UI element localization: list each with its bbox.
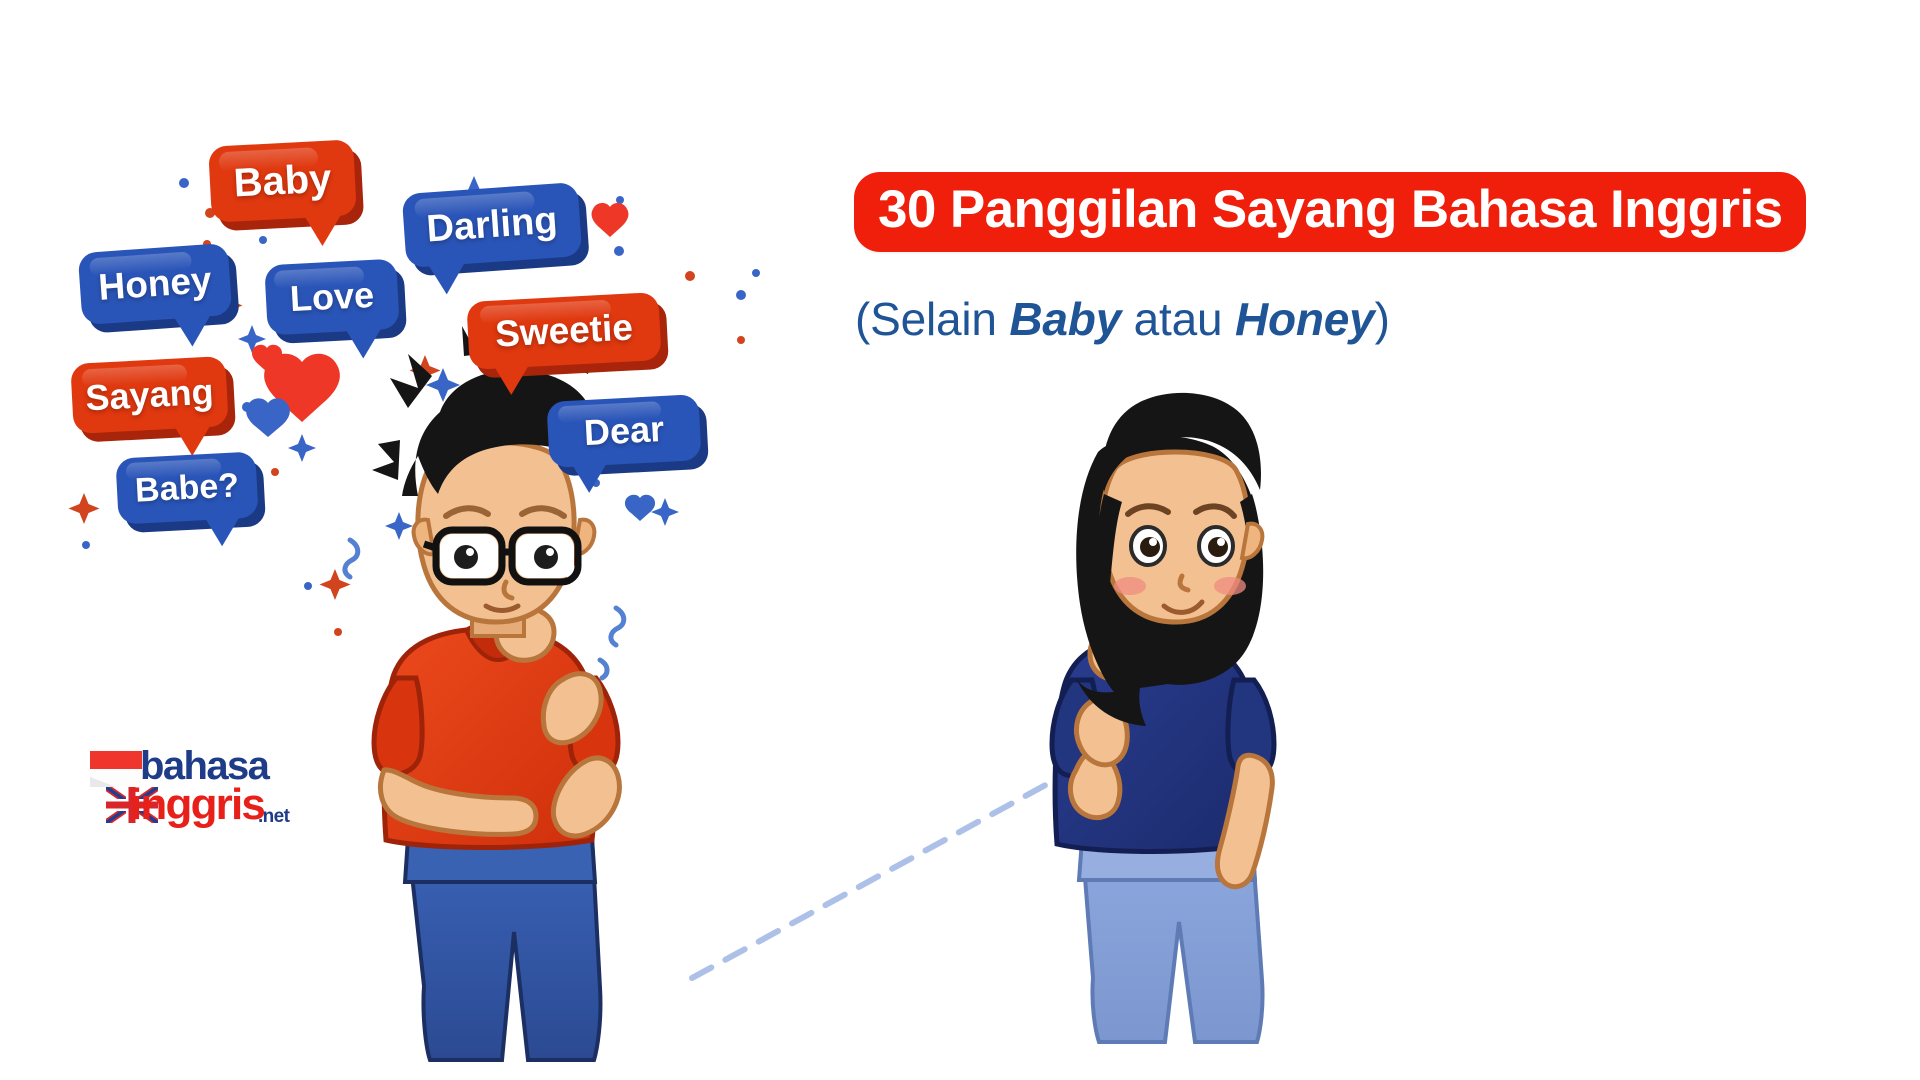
bubble-label: Darling xyxy=(425,199,559,251)
connector-dashed-line xyxy=(692,776,1062,978)
bubble-tail xyxy=(346,327,384,359)
girl-character xyxy=(1052,393,1274,1042)
subtitle-close-paren: ) xyxy=(1375,293,1390,345)
bubble-tail xyxy=(494,364,532,396)
speech-bubble-sweetie: Sweetie xyxy=(466,292,661,370)
bubble-tail xyxy=(175,425,213,457)
site-logo[interactable]: bahasa inggris .net xyxy=(90,745,300,840)
subtitle-emphasis-honey: Honey xyxy=(1235,293,1375,345)
title-banner: 30 Panggilan Sayang Bahasa Inggris xyxy=(854,172,1806,252)
page-subtitle: (Selain Baby atau Honey) xyxy=(855,292,1390,346)
logo-word-inggris: inggris xyxy=(130,783,264,827)
bubble-tail xyxy=(429,263,467,295)
speech-bubble-dear: Dear xyxy=(546,394,701,468)
subtitle-emphasis-baby: Baby xyxy=(1009,293,1121,345)
bubble-tail xyxy=(174,315,212,347)
speech-bubble-baby: Baby xyxy=(208,139,357,222)
bubble-label: Babe? xyxy=(134,466,240,510)
heart-red-large xyxy=(264,354,340,422)
bubble-tail xyxy=(305,215,343,247)
subtitle-middle: atau xyxy=(1121,293,1235,345)
subtitle-lead: Selain xyxy=(870,293,1009,345)
bubble-label: Sayang xyxy=(84,371,214,420)
subtitle-open-paren: ( xyxy=(855,293,870,345)
speech-bubble-sayang: Sayang xyxy=(70,356,228,434)
speech-bubble-love: Love xyxy=(264,259,399,336)
speech-bubble-darling: Darling xyxy=(402,182,583,268)
bubble-tail xyxy=(572,462,610,494)
bubble-tail xyxy=(205,515,243,547)
bubble-label: Dear xyxy=(583,408,665,454)
bubble-label: Love xyxy=(289,274,375,320)
page-title: 30 Panggilan Sayang Bahasa Inggris xyxy=(878,182,1782,238)
logo-tld: .net xyxy=(258,807,289,826)
bubble-label: Honey xyxy=(97,259,213,309)
poster-canvas: Baby Darling Honey Love Sweetie Sayang D… xyxy=(0,0,1920,1080)
speech-bubble-honey: Honey xyxy=(78,243,233,325)
bubble-label: Baby xyxy=(232,156,332,206)
speech-bubble-babe: Babe? xyxy=(115,451,258,524)
bubble-label: Sweetie xyxy=(494,306,634,355)
